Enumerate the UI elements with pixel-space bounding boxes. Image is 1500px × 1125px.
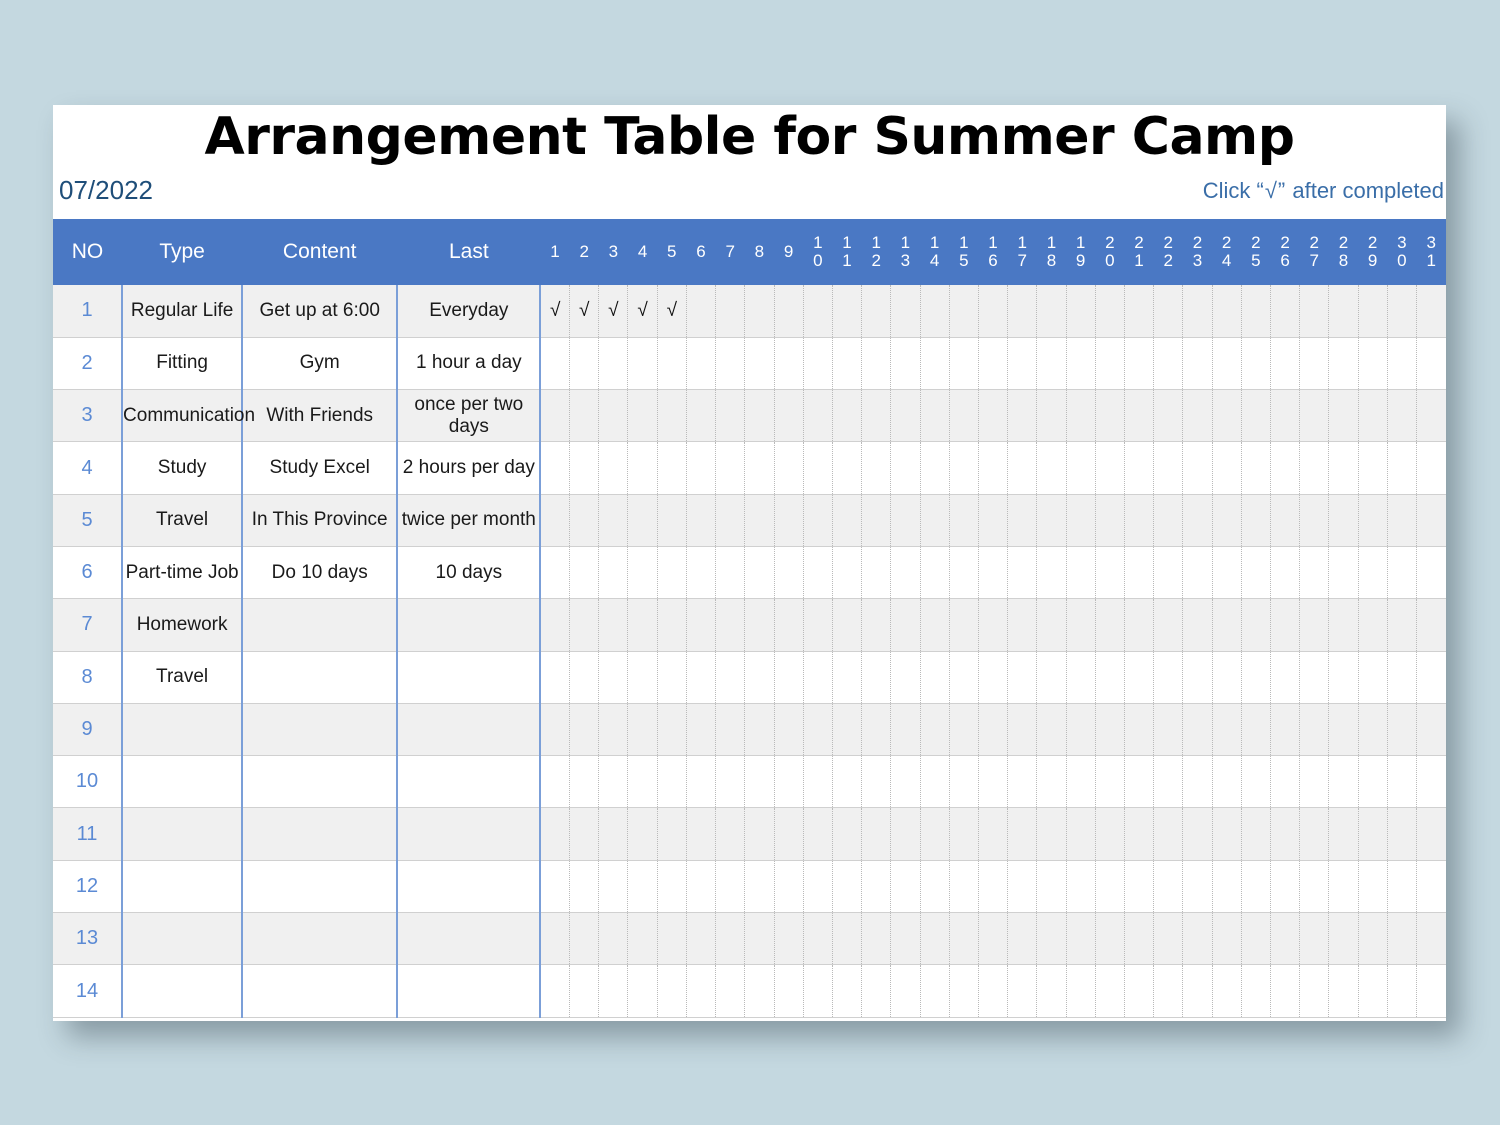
cell-day-13[interactable]: [891, 913, 920, 965]
cell-day-11[interactable]: [832, 703, 861, 755]
cell-day-3[interactable]: [599, 337, 628, 389]
column-header-day-3[interactable]: 3: [599, 219, 628, 285]
cell-day-17[interactable]: [1008, 651, 1037, 703]
cell-day-4[interactable]: [628, 965, 657, 1017]
cell-day-21[interactable]: [1124, 390, 1153, 442]
cell-day-20[interactable]: [1095, 703, 1124, 755]
cell-day-2[interactable]: [570, 860, 599, 912]
cell-day-31[interactable]: [1416, 703, 1446, 755]
cell-day-5[interactable]: [657, 390, 686, 442]
cell-day-8[interactable]: [745, 965, 774, 1017]
cell-day-4[interactable]: [628, 756, 657, 808]
cell-day-3[interactable]: [599, 442, 628, 494]
column-header-day-25[interactable]: 2 5: [1241, 219, 1270, 285]
cell-day-12[interactable]: [862, 965, 891, 1017]
cell-day-28[interactable]: [1329, 546, 1358, 598]
cell-day-3[interactable]: [599, 390, 628, 442]
cell-last[interactable]: twice per month: [397, 494, 540, 546]
cell-day-4[interactable]: [628, 913, 657, 965]
cell-day-6[interactable]: [686, 965, 715, 1017]
cell-day-9[interactable]: [774, 651, 803, 703]
cell-day-20[interactable]: [1095, 546, 1124, 598]
cell-day-9[interactable]: [774, 494, 803, 546]
cell-day-17[interactable]: [1008, 808, 1037, 860]
cell-day-24[interactable]: [1212, 860, 1241, 912]
cell-day-22[interactable]: [1154, 651, 1183, 703]
cell-day-27[interactable]: [1300, 703, 1329, 755]
cell-no[interactable]: 10: [53, 756, 122, 808]
column-header-day-2[interactable]: 2: [570, 219, 599, 285]
cell-no[interactable]: 7: [53, 599, 122, 651]
cell-no[interactable]: 6: [53, 546, 122, 598]
cell-day-8[interactable]: [745, 756, 774, 808]
cell-day-8[interactable]: [745, 337, 774, 389]
cell-day-22[interactable]: [1154, 442, 1183, 494]
cell-day-21[interactable]: [1124, 651, 1153, 703]
cell-day-12[interactable]: [862, 442, 891, 494]
cell-day-8[interactable]: [745, 599, 774, 651]
cell-day-11[interactable]: [832, 756, 861, 808]
cell-day-18[interactable]: [1037, 546, 1066, 598]
column-header-day-26[interactable]: 2 6: [1270, 219, 1299, 285]
cell-day-19[interactable]: [1066, 756, 1095, 808]
cell-day-3[interactable]: [599, 808, 628, 860]
cell-day-14[interactable]: [920, 808, 949, 860]
cell-day-24[interactable]: [1212, 651, 1241, 703]
cell-day-2[interactable]: [570, 599, 599, 651]
cell-day-24[interactable]: [1212, 599, 1241, 651]
cell-day-19[interactable]: [1066, 494, 1095, 546]
column-header-day-12[interactable]: 1 2: [862, 219, 891, 285]
cell-day-22[interactable]: [1154, 965, 1183, 1017]
cell-day-8[interactable]: [745, 703, 774, 755]
cell-day-1[interactable]: [540, 913, 569, 965]
cell-day-12[interactable]: [862, 756, 891, 808]
cell-day-11[interactable]: [832, 337, 861, 389]
cell-day-1[interactable]: [540, 337, 569, 389]
cell-day-16[interactable]: [978, 965, 1007, 1017]
cell-day-23[interactable]: [1183, 965, 1212, 1017]
cell-day-26[interactable]: [1270, 965, 1299, 1017]
cell-last[interactable]: Everyday: [397, 285, 540, 337]
cell-day-16[interactable]: [978, 651, 1007, 703]
column-header-day-6[interactable]: 6: [686, 219, 715, 285]
cell-day-5[interactable]: [657, 546, 686, 598]
cell-day-6[interactable]: [686, 390, 715, 442]
column-header-day-20[interactable]: 2 0: [1095, 219, 1124, 285]
cell-day-1[interactable]: [540, 703, 569, 755]
cell-day-2[interactable]: [570, 337, 599, 389]
cell-day-23[interactable]: [1183, 703, 1212, 755]
cell-day-28[interactable]: [1329, 965, 1358, 1017]
cell-day-7[interactable]: [716, 651, 745, 703]
cell-day-18[interactable]: [1037, 808, 1066, 860]
cell-day-30[interactable]: [1387, 808, 1416, 860]
cell-day-4[interactable]: [628, 860, 657, 912]
cell-day-18[interactable]: [1037, 913, 1066, 965]
cell-day-20[interactable]: [1095, 808, 1124, 860]
cell-day-20[interactable]: [1095, 599, 1124, 651]
cell-no[interactable]: 2: [53, 337, 122, 389]
cell-day-7[interactable]: [716, 285, 745, 337]
cell-day-15[interactable]: [949, 703, 978, 755]
cell-day-27[interactable]: [1300, 546, 1329, 598]
cell-no[interactable]: 13: [53, 913, 122, 965]
cell-day-30[interactable]: [1387, 599, 1416, 651]
cell-day-1[interactable]: [540, 860, 569, 912]
cell-day-2[interactable]: [570, 390, 599, 442]
cell-day-10[interactable]: [803, 599, 832, 651]
cell-day-26[interactable]: [1270, 808, 1299, 860]
cell-type[interactable]: [122, 860, 242, 912]
cell-day-2[interactable]: [570, 965, 599, 1017]
cell-day-2[interactable]: [570, 756, 599, 808]
cell-day-10[interactable]: [803, 546, 832, 598]
cell-day-12[interactable]: [862, 651, 891, 703]
cell-day-6[interactable]: [686, 703, 715, 755]
column-header-day-8[interactable]: 8: [745, 219, 774, 285]
cell-no[interactable]: 3: [53, 390, 122, 442]
cell-day-8[interactable]: [745, 808, 774, 860]
cell-day-10[interactable]: [803, 390, 832, 442]
cell-day-23[interactable]: [1183, 390, 1212, 442]
cell-day-8[interactable]: [745, 651, 774, 703]
cell-day-25[interactable]: [1241, 913, 1270, 965]
cell-day-27[interactable]: [1300, 756, 1329, 808]
cell-day-17[interactable]: [1008, 756, 1037, 808]
cell-day-11[interactable]: [832, 860, 861, 912]
cell-day-5[interactable]: √: [657, 285, 686, 337]
cell-day-10[interactable]: [803, 965, 832, 1017]
cell-day-26[interactable]: [1270, 599, 1299, 651]
cell-day-16[interactable]: [978, 494, 1007, 546]
cell-day-9[interactable]: [774, 599, 803, 651]
cell-day-17[interactable]: [1008, 703, 1037, 755]
cell-day-16[interactable]: [978, 808, 1007, 860]
cell-day-7[interactable]: [716, 756, 745, 808]
cell-day-2[interactable]: [570, 442, 599, 494]
cell-day-22[interactable]: [1154, 494, 1183, 546]
cell-day-2[interactable]: [570, 494, 599, 546]
cell-day-16[interactable]: [978, 860, 1007, 912]
cell-day-15[interactable]: [949, 494, 978, 546]
cell-day-20[interactable]: [1095, 651, 1124, 703]
cell-day-14[interactable]: [920, 494, 949, 546]
cell-day-12[interactable]: [862, 913, 891, 965]
cell-day-2[interactable]: √: [570, 285, 599, 337]
column-header-day-15[interactable]: 1 5: [949, 219, 978, 285]
cell-content[interactable]: Do 10 days: [242, 546, 397, 598]
cell-day-14[interactable]: [920, 442, 949, 494]
cell-day-4[interactable]: [628, 390, 657, 442]
cell-day-30[interactable]: [1387, 442, 1416, 494]
column-header-day-21[interactable]: 2 1: [1124, 219, 1153, 285]
cell-day-15[interactable]: [949, 285, 978, 337]
cell-day-16[interactable]: [978, 599, 1007, 651]
column-header-type[interactable]: Type: [122, 219, 242, 285]
cell-day-15[interactable]: [949, 808, 978, 860]
column-header-day-17[interactable]: 1 7: [1008, 219, 1037, 285]
cell-day-8[interactable]: [745, 913, 774, 965]
cell-day-29[interactable]: [1358, 703, 1387, 755]
cell-type[interactable]: Part-time Job: [122, 546, 242, 598]
cell-day-12[interactable]: [862, 599, 891, 651]
cell-day-21[interactable]: [1124, 285, 1153, 337]
cell-day-11[interactable]: [832, 285, 861, 337]
cell-last[interactable]: [397, 651, 540, 703]
cell-day-9[interactable]: [774, 703, 803, 755]
column-header-day-1[interactable]: 1: [540, 219, 569, 285]
cell-day-14[interactable]: [920, 337, 949, 389]
cell-day-15[interactable]: [949, 965, 978, 1017]
cell-day-23[interactable]: [1183, 494, 1212, 546]
cell-day-14[interactable]: [920, 860, 949, 912]
cell-type[interactable]: [122, 913, 242, 965]
cell-day-31[interactable]: [1416, 546, 1446, 598]
cell-day-17[interactable]: [1008, 546, 1037, 598]
cell-day-9[interactable]: [774, 808, 803, 860]
cell-day-6[interactable]: [686, 494, 715, 546]
cell-day-31[interactable]: [1416, 442, 1446, 494]
cell-day-10[interactable]: [803, 756, 832, 808]
cell-type[interactable]: Study: [122, 442, 242, 494]
cell-last[interactable]: [397, 703, 540, 755]
cell-day-4[interactable]: [628, 494, 657, 546]
cell-last[interactable]: 10 days: [397, 546, 540, 598]
cell-day-7[interactable]: [716, 442, 745, 494]
cell-day-6[interactable]: [686, 756, 715, 808]
cell-day-20[interactable]: [1095, 860, 1124, 912]
cell-day-1[interactable]: [540, 808, 569, 860]
cell-day-4[interactable]: [628, 337, 657, 389]
column-header-day-29[interactable]: 2 9: [1358, 219, 1387, 285]
cell-day-28[interactable]: [1329, 860, 1358, 912]
cell-content[interactable]: [242, 808, 397, 860]
cell-day-7[interactable]: [716, 494, 745, 546]
cell-day-5[interactable]: [657, 703, 686, 755]
cell-day-14[interactable]: [920, 965, 949, 1017]
column-header-day-7[interactable]: 7: [716, 219, 745, 285]
cell-day-23[interactable]: [1183, 442, 1212, 494]
cell-day-29[interactable]: [1358, 494, 1387, 546]
cell-day-24[interactable]: [1212, 285, 1241, 337]
cell-day-3[interactable]: [599, 703, 628, 755]
cell-day-21[interactable]: [1124, 494, 1153, 546]
cell-last[interactable]: [397, 965, 540, 1017]
cell-day-23[interactable]: [1183, 860, 1212, 912]
cell-day-1[interactable]: [540, 599, 569, 651]
cell-day-5[interactable]: [657, 337, 686, 389]
column-header-day-5[interactable]: 5: [657, 219, 686, 285]
cell-day-30[interactable]: [1387, 965, 1416, 1017]
cell-day-31[interactable]: [1416, 860, 1446, 912]
cell-day-26[interactable]: [1270, 390, 1299, 442]
cell-day-31[interactable]: [1416, 337, 1446, 389]
cell-day-25[interactable]: [1241, 494, 1270, 546]
cell-day-9[interactable]: [774, 860, 803, 912]
cell-day-7[interactable]: [716, 390, 745, 442]
cell-day-2[interactable]: [570, 703, 599, 755]
cell-day-12[interactable]: [862, 703, 891, 755]
cell-day-18[interactable]: [1037, 599, 1066, 651]
cell-day-10[interactable]: [803, 808, 832, 860]
cell-day-8[interactable]: [745, 546, 774, 598]
cell-day-27[interactable]: [1300, 390, 1329, 442]
cell-day-13[interactable]: [891, 599, 920, 651]
cell-type[interactable]: Communication: [122, 390, 242, 442]
cell-day-20[interactable]: [1095, 913, 1124, 965]
cell-day-29[interactable]: [1358, 285, 1387, 337]
cell-no[interactable]: 8: [53, 651, 122, 703]
cell-day-29[interactable]: [1358, 651, 1387, 703]
cell-day-9[interactable]: [774, 390, 803, 442]
cell-day-26[interactable]: [1270, 494, 1299, 546]
cell-day-12[interactable]: [862, 285, 891, 337]
cell-day-30[interactable]: [1387, 546, 1416, 598]
cell-day-18[interactable]: [1037, 442, 1066, 494]
cell-day-11[interactable]: [832, 808, 861, 860]
cell-day-13[interactable]: [891, 756, 920, 808]
cell-day-13[interactable]: [891, 703, 920, 755]
column-header-day-11[interactable]: 1 1: [832, 219, 861, 285]
cell-day-28[interactable]: [1329, 390, 1358, 442]
cell-day-24[interactable]: [1212, 756, 1241, 808]
cell-day-19[interactable]: [1066, 913, 1095, 965]
cell-day-6[interactable]: [686, 442, 715, 494]
cell-day-21[interactable]: [1124, 808, 1153, 860]
cell-day-30[interactable]: [1387, 494, 1416, 546]
cell-no[interactable]: 9: [53, 703, 122, 755]
cell-day-7[interactable]: [716, 337, 745, 389]
cell-day-22[interactable]: [1154, 337, 1183, 389]
cell-day-30[interactable]: [1387, 651, 1416, 703]
cell-day-20[interactable]: [1095, 442, 1124, 494]
cell-day-8[interactable]: [745, 442, 774, 494]
cell-day-25[interactable]: [1241, 860, 1270, 912]
cell-day-10[interactable]: [803, 494, 832, 546]
cell-day-29[interactable]: [1358, 913, 1387, 965]
cell-day-19[interactable]: [1066, 337, 1095, 389]
column-header-day-19[interactable]: 1 9: [1066, 219, 1095, 285]
cell-day-12[interactable]: [862, 808, 891, 860]
cell-day-11[interactable]: [832, 442, 861, 494]
cell-last[interactable]: [397, 756, 540, 808]
cell-day-19[interactable]: [1066, 965, 1095, 1017]
cell-day-7[interactable]: [716, 599, 745, 651]
cell-day-5[interactable]: [657, 494, 686, 546]
cell-no[interactable]: 12: [53, 860, 122, 912]
cell-day-3[interactable]: [599, 860, 628, 912]
cell-day-25[interactable]: [1241, 337, 1270, 389]
cell-day-26[interactable]: [1270, 337, 1299, 389]
cell-day-28[interactable]: [1329, 756, 1358, 808]
cell-day-9[interactable]: [774, 442, 803, 494]
cell-content[interactable]: [242, 703, 397, 755]
cell-day-4[interactable]: [628, 442, 657, 494]
cell-no[interactable]: 4: [53, 442, 122, 494]
cell-day-18[interactable]: [1037, 390, 1066, 442]
cell-day-21[interactable]: [1124, 599, 1153, 651]
cell-day-13[interactable]: [891, 651, 920, 703]
cell-day-25[interactable]: [1241, 546, 1270, 598]
cell-day-3[interactable]: [599, 494, 628, 546]
cell-content[interactable]: Gym: [242, 337, 397, 389]
cell-type[interactable]: [122, 703, 242, 755]
cell-day-10[interactable]: [803, 703, 832, 755]
cell-day-22[interactable]: [1154, 808, 1183, 860]
cell-day-14[interactable]: [920, 599, 949, 651]
cell-day-20[interactable]: [1095, 390, 1124, 442]
cell-day-24[interactable]: [1212, 494, 1241, 546]
cell-day-27[interactable]: [1300, 965, 1329, 1017]
cell-day-2[interactable]: [570, 546, 599, 598]
cell-content[interactable]: With Friends: [242, 390, 397, 442]
cell-day-28[interactable]: [1329, 808, 1358, 860]
cell-day-11[interactable]: [832, 494, 861, 546]
cell-day-16[interactable]: [978, 546, 1007, 598]
cell-day-27[interactable]: [1300, 860, 1329, 912]
cell-day-15[interactable]: [949, 860, 978, 912]
cell-day-22[interactable]: [1154, 703, 1183, 755]
cell-day-21[interactable]: [1124, 860, 1153, 912]
cell-day-27[interactable]: [1300, 651, 1329, 703]
cell-day-10[interactable]: [803, 285, 832, 337]
cell-content[interactable]: [242, 860, 397, 912]
cell-day-19[interactable]: [1066, 860, 1095, 912]
cell-day-12[interactable]: [862, 860, 891, 912]
cell-day-19[interactable]: [1066, 703, 1095, 755]
cell-day-24[interactable]: [1212, 337, 1241, 389]
cell-day-30[interactable]: [1387, 703, 1416, 755]
cell-day-31[interactable]: [1416, 913, 1446, 965]
cell-day-15[interactable]: [949, 390, 978, 442]
cell-day-13[interactable]: [891, 442, 920, 494]
cell-day-6[interactable]: [686, 546, 715, 598]
cell-day-30[interactable]: [1387, 337, 1416, 389]
cell-day-21[interactable]: [1124, 546, 1153, 598]
cell-day-15[interactable]: [949, 546, 978, 598]
cell-day-21[interactable]: [1124, 756, 1153, 808]
cell-day-23[interactable]: [1183, 808, 1212, 860]
cell-day-16[interactable]: [978, 756, 1007, 808]
cell-day-5[interactable]: [657, 860, 686, 912]
cell-day-7[interactable]: [716, 808, 745, 860]
cell-day-29[interactable]: [1358, 442, 1387, 494]
cell-day-23[interactable]: [1183, 546, 1212, 598]
cell-no[interactable]: 14: [53, 965, 122, 1017]
cell-day-29[interactable]: [1358, 808, 1387, 860]
cell-day-17[interactable]: [1008, 285, 1037, 337]
cell-day-25[interactable]: [1241, 390, 1270, 442]
cell-day-5[interactable]: [657, 808, 686, 860]
cell-day-25[interactable]: [1241, 703, 1270, 755]
cell-day-22[interactable]: [1154, 285, 1183, 337]
cell-day-16[interactable]: [978, 390, 1007, 442]
column-header-day-10[interactable]: 1 0: [803, 219, 832, 285]
cell-day-17[interactable]: [1008, 390, 1037, 442]
cell-day-15[interactable]: [949, 651, 978, 703]
cell-day-28[interactable]: [1329, 442, 1358, 494]
cell-content[interactable]: [242, 651, 397, 703]
cell-day-8[interactable]: [745, 390, 774, 442]
cell-day-31[interactable]: [1416, 651, 1446, 703]
cell-day-16[interactable]: [978, 337, 1007, 389]
cell-day-5[interactable]: [657, 756, 686, 808]
cell-day-28[interactable]: [1329, 599, 1358, 651]
cell-day-11[interactable]: [832, 599, 861, 651]
cell-day-19[interactable]: [1066, 808, 1095, 860]
cell-day-20[interactable]: [1095, 285, 1124, 337]
